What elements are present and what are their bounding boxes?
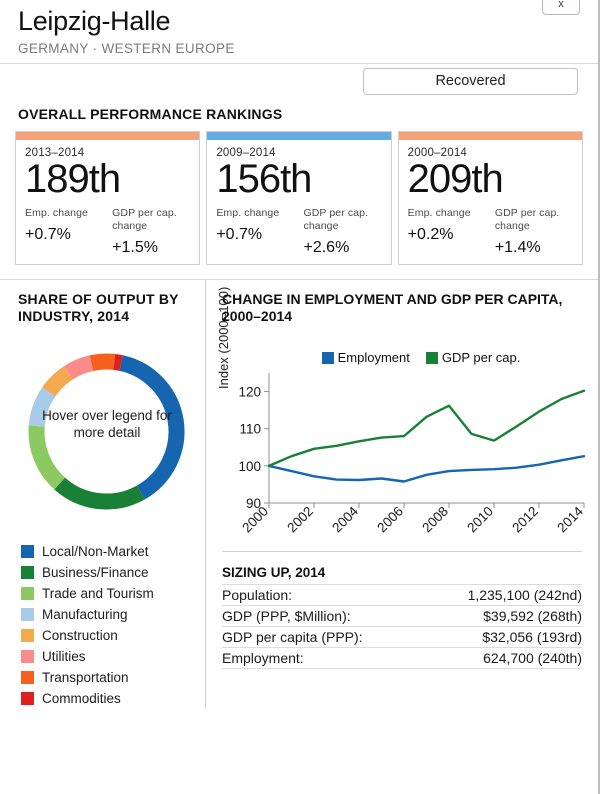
breadcrumb: GERMANY · WESTERN EUROPE [18,39,598,58]
x-tick-label: 2012 [509,504,541,536]
metric-value: +1.5% [112,238,199,257]
legend-item[interactable]: Construction [21,625,205,646]
share-of-output-title: SHARE OF OUTPUT BY INDUSTRY, 2014 [18,291,205,325]
legend-swatch-icon [21,629,34,642]
data-line[interactable] [269,456,584,481]
x-tick-label: 2000 [239,504,271,536]
legend-item-label: Construction [42,628,118,643]
chart-legend-swatch-icon [426,352,438,364]
card-accent-bar [399,132,582,140]
y-tick-label: 100 [238,459,261,474]
chart-legend-item[interactable]: Employment [322,350,410,365]
page-title: Leipzig-Halle [18,4,598,38]
legend-swatch-icon [21,587,34,600]
donut-segment[interactable] [91,362,114,364]
y-tick-label: 110 [239,422,261,437]
card-metrics: Emp. change +0.7% GDP per cap. change +1… [25,207,199,257]
x-tick-label: 2014 [554,503,586,535]
metric-gdp-per-cap: GDP per cap. change +2.6% [303,207,390,257]
status-badge[interactable]: Recovered [363,68,578,95]
y-tick-label: 120 [238,385,261,400]
ranking-card[interactable]: 2009–2014 156th Emp. change +0.7% GDP pe… [206,131,391,265]
donut-segment[interactable] [114,362,121,363]
donut-segment[interactable] [60,484,141,502]
data-line[interactable] [269,391,584,466]
close-icon[interactable]: x [542,0,580,15]
sizing-up-label: GDP per capita (PPP): [222,627,420,648]
legend-item-label: Utilities [42,649,86,664]
legend-item[interactable]: Trade and Tourism [21,583,205,604]
legend-item[interactable]: Utilities [21,646,205,667]
legend-item-label: Trade and Tourism [42,586,154,601]
card-rank-value: 156th [216,157,390,201]
table-row: GDP (PPP, $Million):$39,592 (268th) [222,606,582,627]
sizing-up-title: SIZING UP, 2014 [222,565,582,580]
donut-chart[interactable]: Hover over legend for more detail [20,345,193,518]
status-row: Recovered [0,64,598,96]
share-of-output-section: SHARE OF OUTPUT BY INDUSTRY, 2014 Hover … [0,280,205,709]
line-chart-legend: EmploymentGDP per cap. [252,350,598,365]
rankings-cards: 2013–2014 189th Emp. change +0.7% GDP pe… [0,131,598,265]
metric-employment: Emp. change +0.7% [25,207,112,257]
table-row: Population:1,235,100 (242nd) [222,585,582,606]
line-chart[interactable]: Index (2000=100) 90100110120200020022004… [222,367,592,539]
card-accent-bar [207,132,390,140]
metric-value: +0.7% [25,225,112,244]
legend-swatch-icon [21,671,34,684]
industry-legend: Local/Non-MarketBusiness/FinanceTrade an… [21,541,205,709]
metric-label: GDP per cap. change [112,207,199,233]
card-accent-bar [16,132,199,140]
metric-label: GDP per cap. change [495,207,582,233]
chart-legend-item[interactable]: GDP per cap. [426,350,521,365]
x-tick-label: 2006 [374,504,406,536]
card-rank-value: 189th [25,157,199,201]
legend-item[interactable]: Commodities [21,688,205,709]
sizing-up-value: 1,235,100 (242nd) [420,585,582,606]
chart-legend-swatch-icon [322,352,334,364]
legend-item[interactable]: Transportation [21,667,205,688]
chart-legend-label: Employment [338,350,410,365]
metric-value: +0.7% [216,225,303,244]
sizing-up-label: Employment: [222,648,420,669]
card-metrics: Emp. change +0.7% GDP per cap. change +2… [216,207,390,257]
metric-value: +1.4% [495,238,582,257]
x-tick-label: 2002 [284,504,316,536]
right-column: CHANGE IN EMPLOYMENT AND GDP PER CAPITA,… [205,280,598,709]
legend-item[interactable]: Manufacturing [21,604,205,625]
donut-segment[interactable] [68,363,91,373]
legend-item[interactable]: Local/Non-Market [21,541,205,562]
metric-value: +0.2% [408,225,495,244]
metric-value: +2.6% [303,238,390,257]
y-axis-label: Index (2000=100) [216,287,231,389]
ranking-card[interactable]: 2013–2014 189th Emp. change +0.7% GDP pe… [15,131,200,265]
legend-swatch-icon [21,650,34,663]
x-tick-label: 2010 [464,504,496,536]
city-profile-panel: x Leipzig-Halle GERMANY · WESTERN EUROPE… [0,0,600,794]
legend-swatch-icon [21,545,34,558]
legend-swatch-icon [21,566,34,579]
lower-section: SHARE OF OUTPUT BY INDUSTRY, 2014 Hover … [0,279,598,709]
legend-item-label: Manufacturing [42,607,128,622]
employment-gdp-chart-title: CHANGE IN EMPLOYMENT AND GDP PER CAPITA,… [222,291,598,325]
sizing-up-label: GDP (PPP, $Million): [222,606,420,627]
metric-label: Emp. change [216,207,303,220]
ranking-card[interactable]: 2000–2014 209th Emp. change +0.2% GDP pe… [398,131,583,265]
legend-item-label: Local/Non-Market [42,544,149,559]
line-chart-svg: 9010011012020002002200420062008201020122… [222,367,592,539]
card-rank-value: 209th [408,157,582,201]
chart-legend-label: GDP per cap. [442,350,521,365]
sizing-up-section: SIZING UP, 2014 Population:1,235,100 (24… [222,551,582,669]
x-tick-label: 2004 [329,503,361,535]
sizing-up-table: Population:1,235,100 (242nd)GDP (PPP, $M… [222,584,582,669]
sizing-up-label: Population: [222,585,420,606]
legend-item-label: Business/Finance [42,565,149,580]
panel-header: Leipzig-Halle GERMANY · WESTERN EUROPE [0,0,598,58]
sizing-up-value: $39,592 (268th) [420,606,582,627]
metric-label: Emp. change [408,207,495,220]
table-row: GDP per capita (PPP):$32,056 (193rd) [222,627,582,648]
card-metrics: Emp. change +0.2% GDP per cap. change +1… [408,207,582,257]
sizing-up-value: 624,700 (240th) [420,648,582,669]
donut-segment[interactable] [49,373,69,392]
legend-item-label: Commodities [42,691,121,706]
legend-swatch-icon [21,608,34,621]
metric-label: GDP per cap. change [303,207,390,233]
table-row: Employment:624,700 (240th) [222,648,582,669]
metric-employment: Emp. change +0.2% [408,207,495,257]
legend-item-label: Transportation [42,670,129,685]
rankings-section-title: OVERALL PERFORMANCE RANKINGS [18,106,598,122]
donut-center-hint: Hover over legend for more detail [42,407,172,441]
metric-gdp-per-cap: GDP per cap. change +1.4% [495,207,582,257]
sizing-up-value: $32,056 (193rd) [420,627,582,648]
legend-item[interactable]: Business/Finance [21,562,205,583]
metric-label: Emp. change [25,207,112,220]
legend-swatch-icon [21,692,34,705]
metric-employment: Emp. change +0.7% [216,207,303,257]
metric-gdp-per-cap: GDP per cap. change +1.5% [112,207,199,257]
x-tick-label: 2008 [419,504,451,536]
